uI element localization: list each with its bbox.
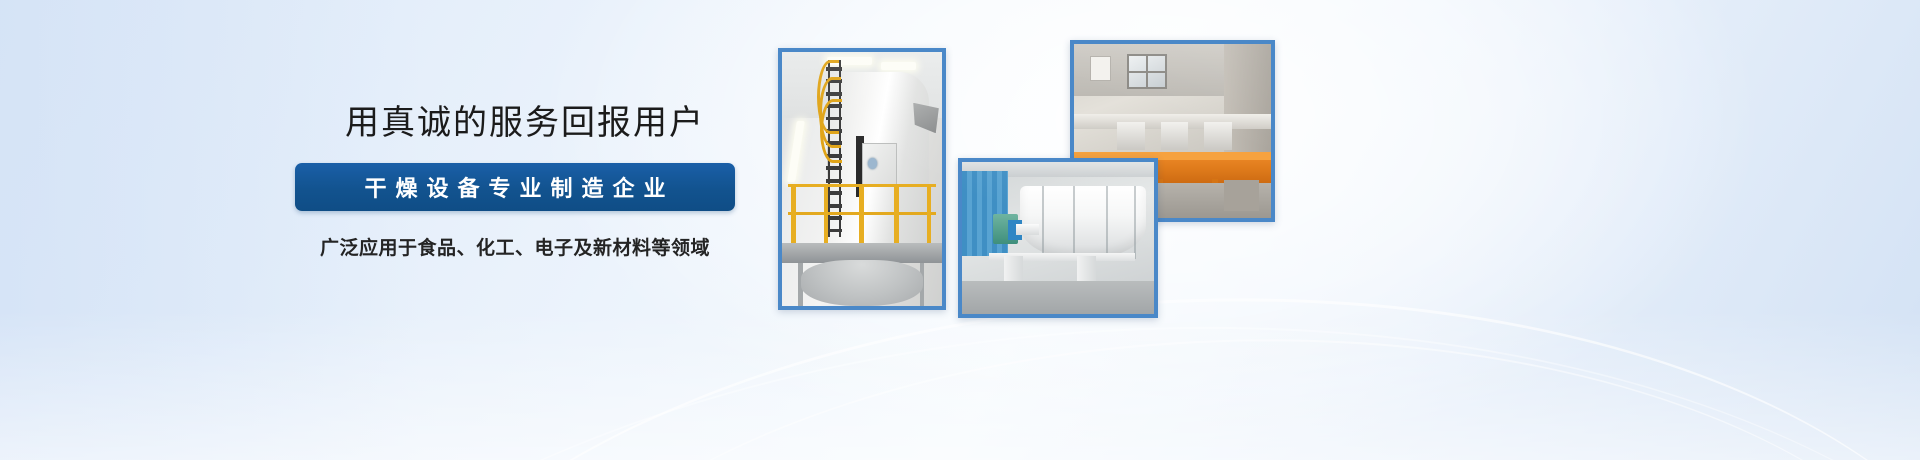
ceiling-light-icon (881, 62, 916, 70)
ladder-rung (826, 179, 842, 183)
railing-post (927, 184, 932, 245)
photo-spray-dryer-tower-content (782, 52, 942, 306)
background-swoosh-arc-2 (467, 314, 1920, 460)
ladder-rung (826, 166, 842, 170)
hall-window (1127, 54, 1166, 89)
tank-seam (1134, 186, 1136, 259)
railing-post (824, 184, 829, 245)
railing-post (791, 184, 796, 245)
mixer-floor (962, 281, 1154, 314)
banner-slogan-text: 干燥设备专业制造企业 (355, 171, 674, 203)
ladder-safety-cage (820, 99, 842, 163)
mixer-tank-body (1020, 186, 1147, 259)
tank-seam (1073, 186, 1075, 259)
photo-ribbon-mixer-content (962, 162, 1154, 314)
banner-text-block: 用真诚的服务回报用户 干燥设备专业制造企业 广泛应用于食品、化工、电子及新材料等… (295, 105, 755, 260)
railing-post (894, 184, 899, 245)
photo-ribbon-mixer-tank (958, 158, 1158, 318)
railing-post (859, 184, 864, 245)
tower-cone-bottom (801, 260, 923, 306)
banner-subline: 广泛应用于食品、化工、电子及新材料等领域 (295, 233, 735, 260)
tank-seam (1106, 186, 1108, 259)
hall-machine-unit (1161, 122, 1189, 150)
banner-slogan-pill: 干燥设备专业制造企业 (295, 163, 735, 211)
hall-crate (1224, 180, 1259, 211)
background-bottom-glow (0, 310, 1920, 460)
wall-poster (1090, 56, 1112, 80)
promo-banner: 用真诚的服务回报用户 干燥设备专业制造企业 广泛应用于食品、化工、电子及新材料等… (0, 0, 1920, 460)
photo-spray-dryer-tower (778, 48, 946, 310)
hall-machine-unit (1204, 122, 1232, 150)
tower-inspection-hatch (862, 143, 897, 186)
mixer-drive-shaft (1016, 224, 1039, 235)
banner-headline: 用真诚的服务回报用户 (295, 105, 755, 142)
tank-seam (1042, 186, 1044, 259)
platform-railing (788, 184, 935, 245)
hall-machine-unit (1117, 122, 1145, 150)
